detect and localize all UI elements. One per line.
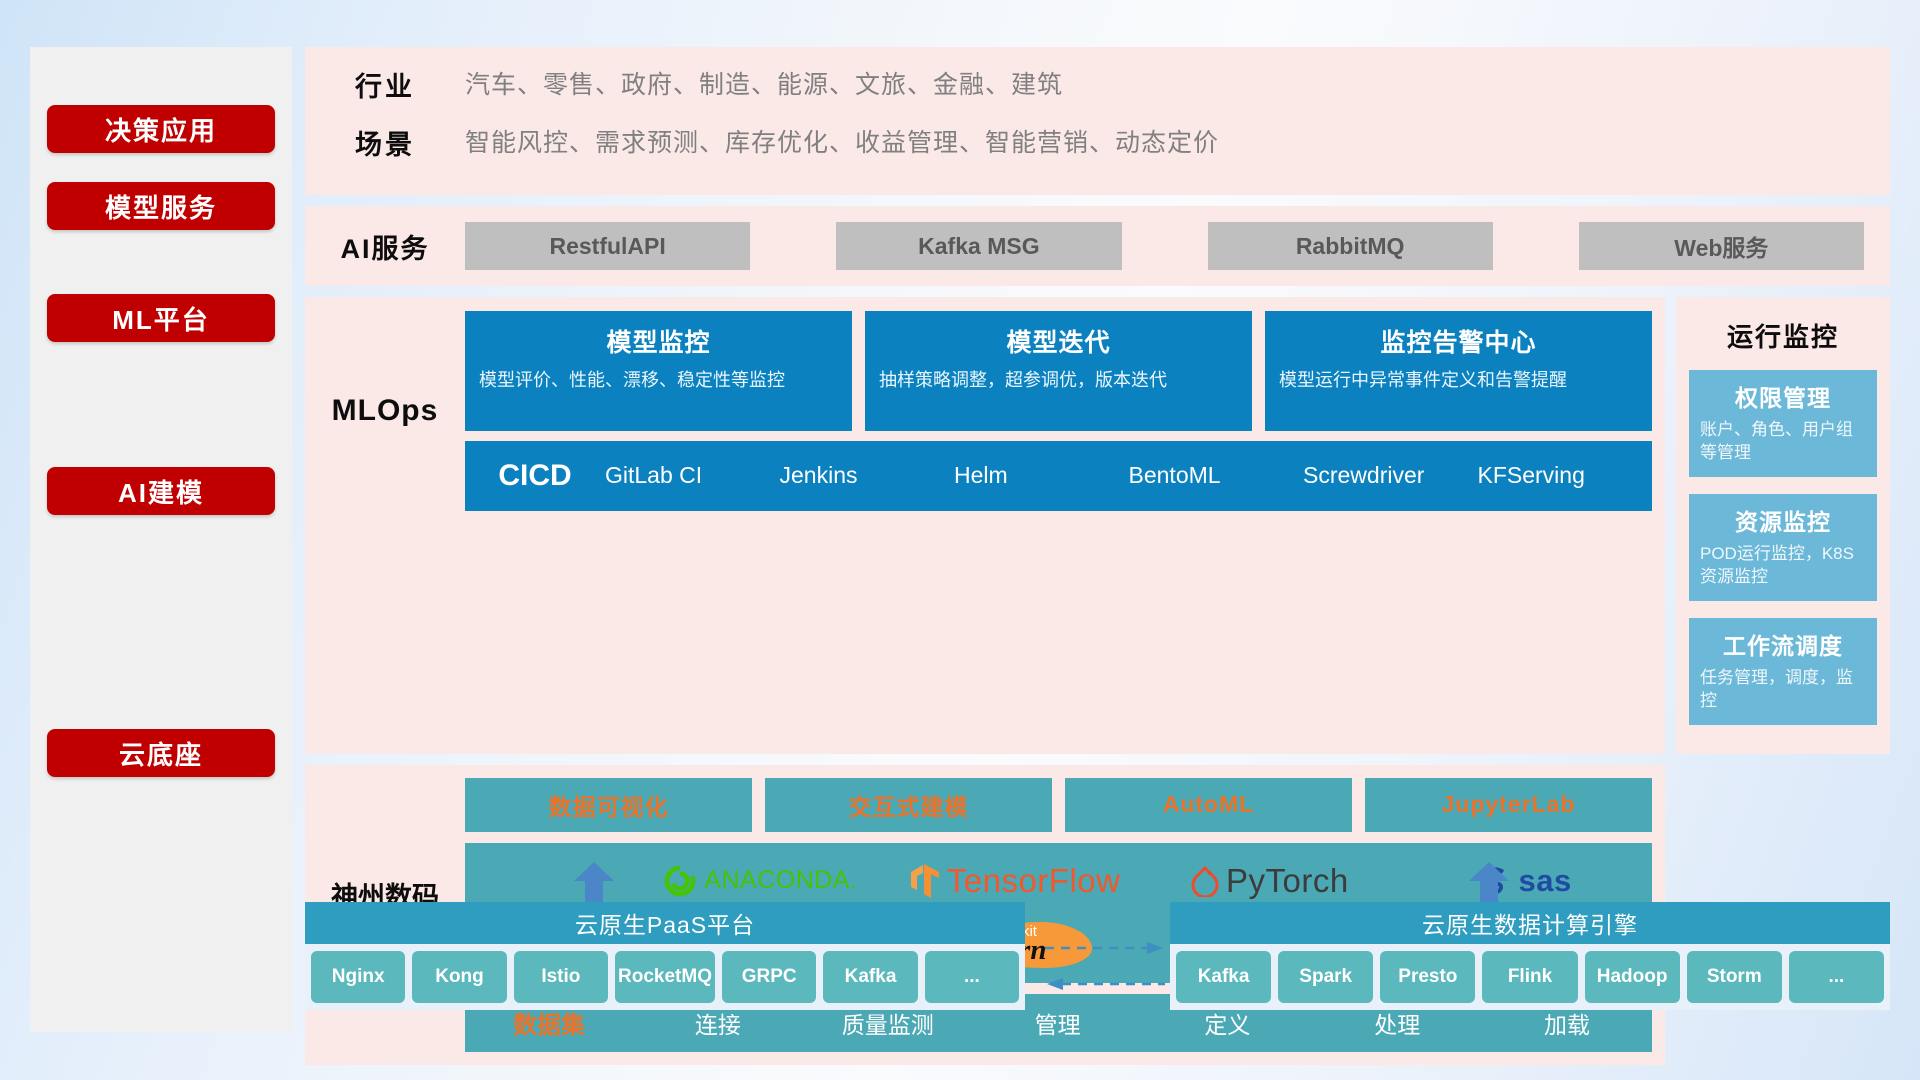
lab-tool-data-visualization[interactable]: 数据可视化: [465, 778, 752, 832]
card-desc: 任务管理，调度，监控: [1700, 667, 1866, 713]
cicd-label: CICD: [465, 459, 605, 493]
mlops-card-model-monitoring[interactable]: 模型监控 模型评价、性能、漂移、稳定性等监控: [465, 311, 852, 431]
cloud-chip-spark[interactable]: Spark: [1278, 951, 1373, 1003]
rail-item-model-service[interactable]: 模型服务: [47, 182, 275, 230]
ai-chip-web-service[interactable]: Web服务: [1579, 222, 1864, 270]
section-decision-apps: 行业 汽车、零售、政府、制造、能源、文旅、金融、建筑 场景 智能风控、需求预测、…: [305, 47, 1890, 195]
section-runtime-monitor: 运行监控 权限管理 账户、角色、用户组等管理 资源监控 POD运行监控，K8S资…: [1676, 297, 1890, 754]
app-row-scenario: 场景 智能风控、需求预测、库存优化、收益管理、智能营销、动态定价: [305, 123, 1890, 181]
mlops-card-alert-center[interactable]: 监控告警中心 模型运行中异常事件定义和告警提醒: [1265, 311, 1652, 431]
rail-label: ML平台: [112, 300, 210, 337]
cloud-data-engine-title: 云原生数据计算引擎: [1170, 902, 1890, 944]
cicd-item-gitlab-ci[interactable]: GitLab CI: [605, 460, 780, 491]
rail-item-ml-platform[interactable]: ML平台: [47, 294, 275, 342]
ml-lab-tool-list: 数据可视化 交互式建模 AutoML JupyterLab: [465, 778, 1652, 832]
lab-tool-interactive-modeling[interactable]: 交互式建模: [765, 778, 1052, 832]
ai-service-label: AI服务: [305, 227, 465, 266]
cloud-chip-presto[interactable]: Presto: [1380, 951, 1475, 1003]
cloud-chip-nginx[interactable]: Nginx: [311, 951, 405, 1003]
cicd-item-bentoml[interactable]: BentoML: [1129, 460, 1304, 491]
bidirectional-link-icon: [1045, 938, 1165, 998]
section-ml-platform: MLOps 模型监控 模型评价、性能、漂移、稳定性等监控 模型迭代 抽样策略调整…: [305, 297, 1890, 754]
mlops-panel: MLOps 模型监控 模型评价、性能、漂移、稳定性等监控 模型迭代 抽样策略调整…: [305, 297, 1665, 754]
card-title: 资源监控: [1700, 503, 1866, 537]
rail-label: 决策应用: [105, 111, 217, 148]
card-title: 模型监控: [479, 323, 838, 359]
layer-rail: 决策应用 模型服务 ML平台 AI建模 云底座: [30, 47, 292, 1032]
monitor-card-resource[interactable]: 资源监控 POD运行监控，K8S资源监控: [1689, 494, 1877, 601]
mlops-card-list: 模型监控 模型评价、性能、漂移、稳定性等监控 模型迭代 抽样策略调整，超参调优，…: [465, 311, 1652, 431]
cicd-item-jenkins[interactable]: Jenkins: [780, 460, 955, 491]
lab-tool-jupyterlab[interactable]: JupyterLab: [1365, 778, 1652, 832]
app-row-industry: 行业 汽车、零售、政府、制造、能源、文旅、金融、建筑: [305, 65, 1890, 123]
card-desc: POD运行监控，K8S资源监控: [1700, 543, 1866, 589]
cloud-data-engine-group: 云原生数据计算引擎 Kafka Spark Presto Flink Hadoo…: [1170, 902, 1890, 1010]
cicd-item-helm[interactable]: Helm: [954, 460, 1129, 491]
card-desc: 模型运行中异常事件定义和告警提醒: [1279, 368, 1638, 393]
card-title: 工作流调度: [1700, 627, 1866, 661]
cloud-chip-hadoop[interactable]: Hadoop: [1585, 951, 1680, 1003]
app-key-scenario: 场景: [305, 123, 465, 162]
lab-tool-automl[interactable]: AutoML: [1065, 778, 1352, 832]
cloud-paas-chip-list: Nginx Kong Istio RocketMQ GRPC Kafka ...: [305, 944, 1025, 1010]
cloud-chip-istio[interactable]: Istio: [514, 951, 608, 1003]
arrow-up-right-icon: [1465, 862, 1513, 906]
ai-chip-restfulapi[interactable]: RestfulAPI: [465, 222, 750, 270]
monitor-card-permission[interactable]: 权限管理 账户、角色、用户组等管理: [1689, 370, 1877, 477]
card-desc: 模型评价、性能、漂移、稳定性等监控: [479, 368, 838, 393]
rail-item-cloud-base[interactable]: 云底座: [47, 729, 275, 777]
cloud-chip-kafka-right[interactable]: Kafka: [1176, 951, 1271, 1003]
cloud-chip-more[interactable]: ...: [925, 951, 1019, 1003]
cloud-chip-more-right[interactable]: ...: [1789, 951, 1884, 1003]
rail-item-ai-modeling[interactable]: AI建模: [47, 467, 275, 515]
cicd-item-screwdriver[interactable]: Screwdriver: [1303, 460, 1478, 491]
rail-label: AI建模: [118, 473, 204, 510]
cloud-chip-storm[interactable]: Storm: [1687, 951, 1782, 1003]
cloud-chip-flink[interactable]: Flink: [1482, 951, 1577, 1003]
section-cloud-base: 云原生PaaS平台 Nginx Kong Istio RocketMQ GRPC…: [305, 880, 1890, 1040]
cicd-item-list: GitLab CI Jenkins Helm BentoML Screwdriv…: [605, 460, 1652, 491]
cloud-paas-group: 云原生PaaS平台 Nginx Kong Istio RocketMQ GRPC…: [305, 902, 1025, 1010]
cloud-chip-rocketmq[interactable]: RocketMQ: [615, 951, 715, 1003]
rail-label: 云底座: [119, 735, 203, 772]
cicd-item-kfserving[interactable]: KFServing: [1478, 460, 1653, 491]
app-value-scenario: 智能风控、需求预测、库存优化、收益管理、智能营销、动态定价: [465, 123, 1219, 159]
card-title: 监控告警中心: [1279, 323, 1638, 359]
card-desc: 账户、角色、用户组等管理: [1700, 419, 1866, 465]
rail-label: 模型服务: [105, 188, 217, 225]
ai-chip-kafka-msg[interactable]: Kafka MSG: [836, 222, 1121, 270]
section-ai-service: AI服务 RestfulAPI Kafka MSG RabbitMQ Web服务: [305, 206, 1890, 286]
arrow-up-left-icon: [570, 862, 618, 906]
runtime-monitor-title: 运行监控: [1689, 317, 1877, 354]
card-title: 权限管理: [1700, 379, 1866, 413]
cloud-paas-title: 云原生PaaS平台: [305, 902, 1025, 944]
ai-chip-rabbitmq[interactable]: RabbitMQ: [1208, 222, 1493, 270]
ai-service-chip-list: RestfulAPI Kafka MSG RabbitMQ Web服务: [465, 222, 1890, 270]
cloud-data-engine-chip-list: Kafka Spark Presto Flink Hadoop Storm ..…: [1170, 944, 1890, 1010]
cloud-chip-grpc[interactable]: GRPC: [722, 951, 816, 1003]
app-value-industry: 汽车、零售、政府、制造、能源、文旅、金融、建筑: [465, 65, 1063, 101]
cicd-bar: CICD GitLab CI Jenkins Helm BentoML Scre…: [465, 441, 1652, 511]
card-title: 模型迭代: [879, 323, 1238, 359]
cloud-chip-kong[interactable]: Kong: [412, 951, 506, 1003]
rail-item-decision-apps[interactable]: 决策应用: [47, 105, 275, 153]
mlops-card-model-iteration[interactable]: 模型迭代 抽样策略调整，超参调优，版本迭代: [865, 311, 1252, 431]
card-desc: 抽样策略调整，超参调优，版本迭代: [879, 368, 1238, 393]
cloud-chip-kafka[interactable]: Kafka: [823, 951, 917, 1003]
monitor-card-workflow[interactable]: 工作流调度 任务管理，调度，监控: [1689, 618, 1877, 725]
app-key-industry: 行业: [305, 65, 465, 104]
mlops-label: MLOps: [305, 311, 465, 511]
